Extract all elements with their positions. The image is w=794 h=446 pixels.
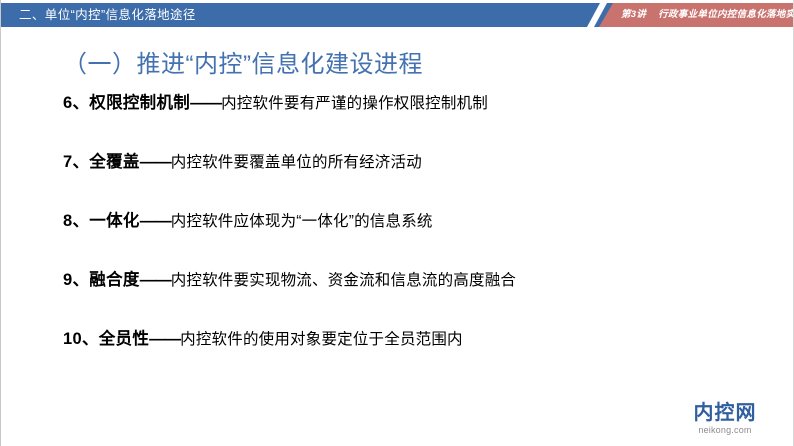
page-title: （一）推进“内控”信息化建设进程	[63, 44, 423, 79]
list-item: 7、全覆盖——内控软件要覆盖单位的所有经济活动	[63, 147, 763, 177]
header-title: 二、单位“内控”信息化落地途径	[19, 4, 196, 26]
list-item: 6、权限控制机制——内控软件要有严谨的操作权限控制机制	[63, 88, 763, 118]
logo-text: 内控网	[673, 402, 777, 424]
list-item-lead: 9、融合度	[63, 271, 140, 289]
list-item-lead: 7、全覆盖	[63, 153, 140, 171]
slide-header: 二、单位“内控”信息化落地途径 第3讲行政事业单位内控信息化落地实施	[1, 0, 794, 28]
list-item-text: 内控软件要覆盖单位的所有经济活动	[171, 154, 422, 171]
list-item-lead: 8、一体化	[63, 212, 140, 230]
slide-canvas: 二、单位“内控”信息化落地途径 第3讲行政事业单位内控信息化落地实施 （一）推进…	[0, 0, 794, 446]
list-item-dash: ——	[140, 153, 171, 171]
list-item-text: 内控软件要有严谨的操作权限控制机制	[221, 95, 488, 112]
list-item-text: 内控软件要实现物流、资金流和信息流的高度融合	[171, 272, 516, 289]
list-item: 9、融合度——内控软件要实现物流、资金流和信息流的高度融合	[63, 265, 763, 295]
list-item: 10、全员性——内控软件的使用对象要定位于全员范围内	[63, 324, 763, 354]
logo-url: neikong.com	[673, 424, 777, 436]
lecture-number: 第3讲	[621, 9, 646, 20]
course-banner-text: 第3讲行政事业单位内控信息化落地实施	[621, 5, 794, 25]
list-item-lead: 10、全员性	[63, 330, 149, 348]
watermark-logo: 内控网 neikong.com	[673, 402, 777, 436]
list-item: 8、一体化——内控软件应体现为“一体化”的信息系统	[63, 206, 763, 236]
list-item-dash: ——	[140, 212, 171, 230]
list-item-dash: ——	[190, 94, 221, 112]
content-list: 6、权限控制机制——内控软件要有严谨的操作权限控制机制 7、全覆盖——内控软件要…	[63, 88, 763, 383]
list-item-dash: ——	[140, 271, 171, 289]
list-item-text: 内控软件应体现为“一体化”的信息系统	[171, 213, 433, 230]
list-item-lead: 6、权限控制机制	[63, 94, 190, 112]
list-item-text: 内控软件的使用对象要定位于全员范围内	[180, 331, 463, 348]
list-item-dash: ——	[149, 330, 180, 348]
course-title: 行政事业单位内控信息化落地实施	[658, 9, 794, 20]
